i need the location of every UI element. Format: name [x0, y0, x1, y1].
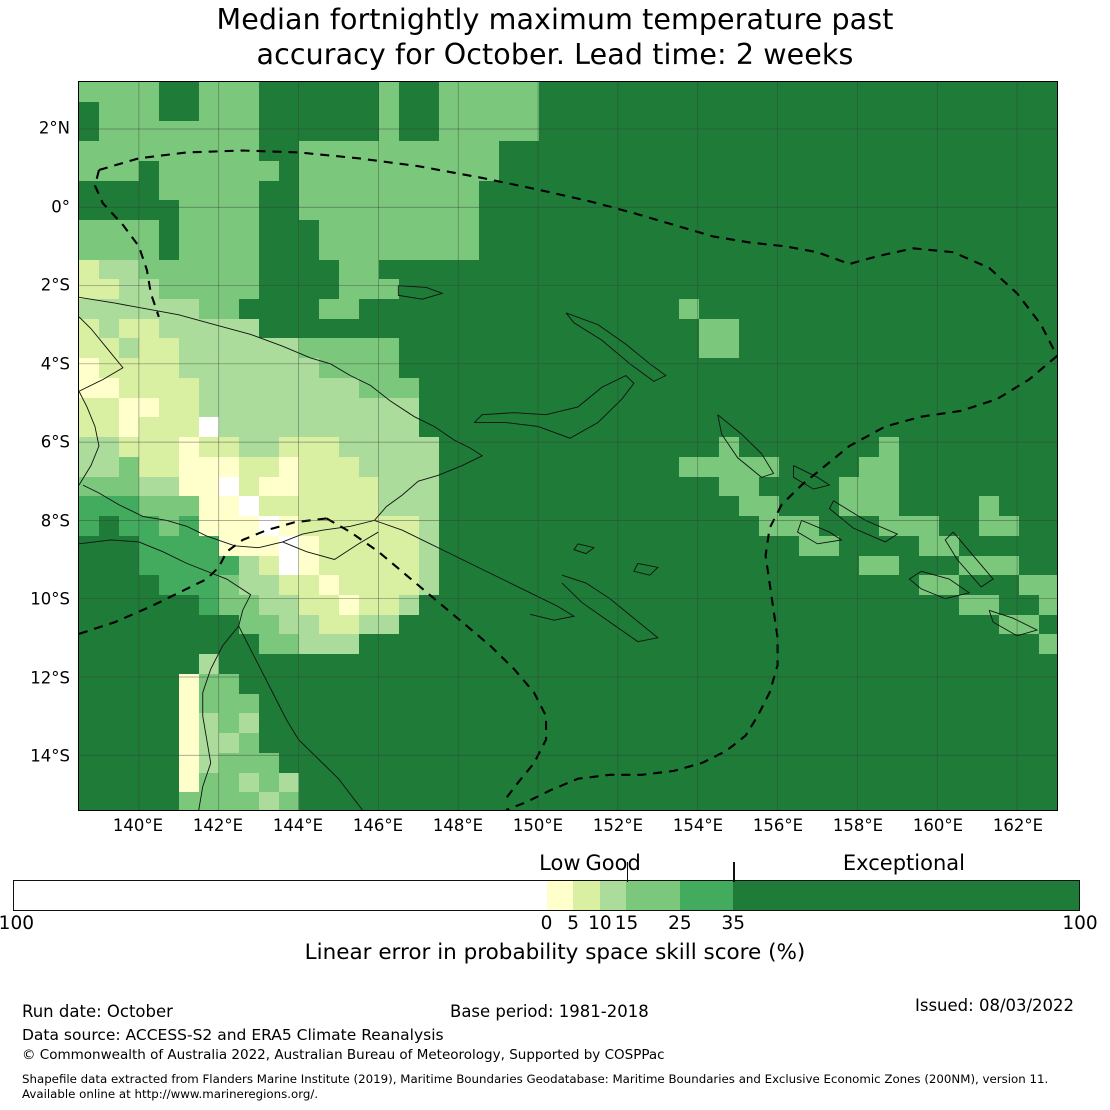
colorbar-segment-15-25[interactable] — [626, 881, 679, 910]
colorbar-tick-5: 5 — [567, 913, 579, 934]
shapefile-text-2: Available online at http://www.marinereg… — [22, 1087, 318, 1101]
colorbar-tick-25: 25 — [668, 913, 692, 934]
colorbar-tick-0: 0 — [541, 913, 553, 934]
longitude-tick-146°E: 146°E — [353, 816, 403, 835]
latitude-tick-12°S: 12°S — [0, 668, 70, 687]
latitude-tick-14°S: 14°S — [0, 747, 70, 766]
colorbar-category-divider — [733, 862, 735, 882]
colorbar-segment-25-35[interactable] — [680, 881, 733, 910]
longitude-tick-160°E: 160°E — [913, 816, 963, 835]
latitude-tick-10°S: 10°S — [0, 590, 70, 609]
longitude-tick-152°E: 152°E — [593, 816, 643, 835]
longitude-tick-158°E: 158°E — [833, 816, 883, 835]
colorbar-tick-10: 10 — [588, 913, 612, 934]
run-date-text: Run date: October — [22, 1002, 173, 1021]
figure-root: Median fortnightly maximum temperature p… — [0, 0, 1110, 1110]
shapefile-text-1: Shapefile data extracted from Flanders M… — [22, 1072, 1048, 1086]
latitude-tick-4°S: 4°S — [0, 354, 70, 373]
base-period-text: Base period: 1981-2018 — [450, 1002, 649, 1021]
longitude-tick-142°E: 142°E — [193, 816, 243, 835]
latitude-tick-2°S: 2°S — [0, 276, 70, 295]
latitude-tick-8°S: 8°S — [0, 511, 70, 530]
colorbar-tick-15: 15 — [615, 913, 639, 934]
longitude-tick-154°E: 154°E — [673, 816, 723, 835]
colorbar-segment-5-10[interactable] — [573, 881, 600, 910]
latitude-tick-2°N: 2°N — [0, 119, 70, 138]
colorbar-tick-100: 100 — [1062, 913, 1097, 934]
longitude-tick-162°E: 162°E — [993, 816, 1043, 835]
copyright-text: © Commonwealth of Australia 2022, Austra… — [22, 1047, 665, 1063]
page-title: Median fortnightly maximum temperature p… — [0, 2, 1110, 72]
colorbar-category-divider — [627, 862, 629, 882]
colorbar-segment-10-15[interactable] — [600, 881, 627, 910]
colorbar-category-low: Low — [539, 851, 580, 875]
longitude-tick-140°E: 140°E — [113, 816, 163, 835]
longitude-tick-156°E: 156°E — [753, 816, 803, 835]
latitude-tick-6°S: 6°S — [0, 433, 70, 452]
title-line-1: Median fortnightly maximum temperature p… — [0, 2, 1110, 37]
issued-date-text: Issued: 08/03/2022 — [915, 996, 1074, 1015]
colorbar-segment--100-0[interactable] — [14, 881, 547, 910]
longitude-tick-144°E: 144°E — [273, 816, 323, 835]
colorbar-segment-35-100[interactable] — [733, 881, 1079, 910]
title-line-2: accuracy for October. Lead time: 2 weeks — [0, 37, 1110, 72]
data-source-text: Data source: ACCESS-S2 and ERA5 Climate … — [22, 1026, 444, 1044]
colorbar-tick-35: 35 — [721, 913, 745, 934]
colorbar-axis-label: Linear error in probability space skill … — [0, 940, 1110, 965]
colorbar-category-exceptional: Exceptional — [843, 851, 965, 875]
latitude-tick-0°: 0° — [0, 197, 70, 216]
map-axes[interactable] — [78, 81, 1058, 811]
longitude-tick-150°E: 150°E — [513, 816, 563, 835]
colorbar[interactable] — [13, 880, 1080, 911]
colorbar-tick--100: -100 — [0, 913, 34, 934]
colorbar-category-good: Good — [586, 851, 641, 875]
graticule-layer — [79, 82, 1057, 810]
longitude-tick-148°E: 148°E — [433, 816, 483, 835]
colorbar-segment-0-5[interactable] — [547, 881, 574, 910]
